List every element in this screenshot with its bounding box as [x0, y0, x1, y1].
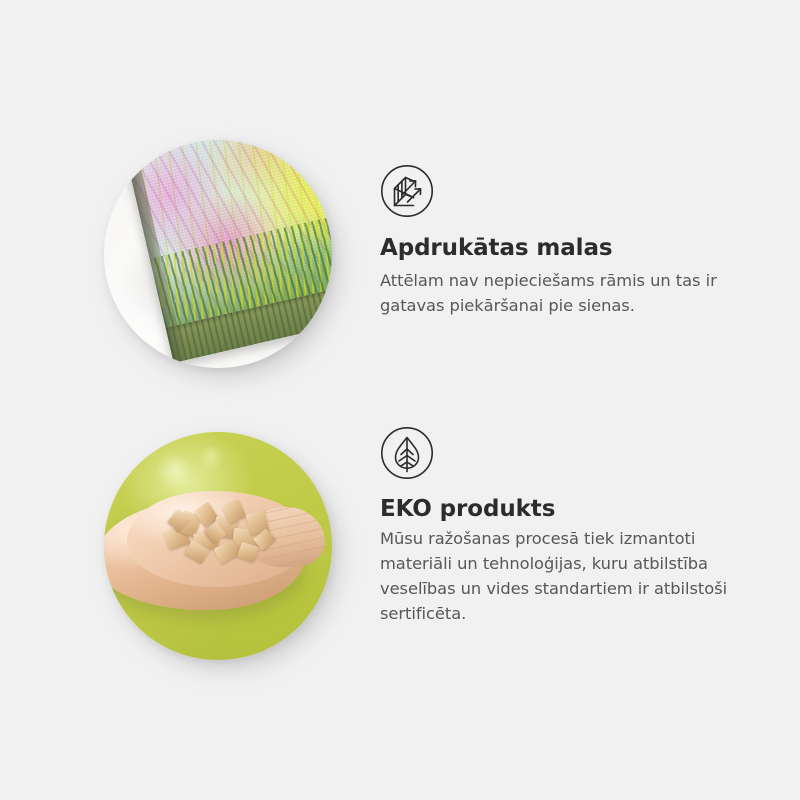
feature-description: Attēlam nav nepieciešams rāmis un tas ir…: [380, 260, 736, 318]
feature-block-eco-product: EKO produkts Mūsu ražošanas procesā tiek…: [0, 410, 800, 680]
promo-page: Apdrukātas malas Attēlam nav nepieciešam…: [0, 0, 800, 800]
feature-text-column: EKO produkts Mūsu ražošanas procesā tiek…: [380, 426, 740, 626]
eco-scene-background: [104, 432, 332, 660]
feature-title: EKO produkts: [380, 480, 740, 521]
hands-wood-chips-photo: [104, 432, 332, 660]
canvas-scene-background: [104, 140, 332, 368]
photo-circle: [104, 140, 332, 368]
photo-circle: [104, 432, 332, 660]
feature-description: Mūsu ražošanas procesā tiek izmantoti ma…: [380, 521, 736, 626]
feature-text-column: Apdrukātas malas Attēlam nav nepieciešam…: [380, 164, 740, 318]
leaf-icon: [380, 426, 434, 480]
feature-block-printed-edges: Apdrukātas malas Attēlam nav nepieciešam…: [0, 118, 800, 388]
wood-chips-pile: [159, 496, 287, 569]
canvas-printed-edge-photo: [104, 140, 332, 368]
feature-title: Apdrukātas malas: [380, 218, 740, 260]
printed-edges-icon: [380, 164, 434, 218]
